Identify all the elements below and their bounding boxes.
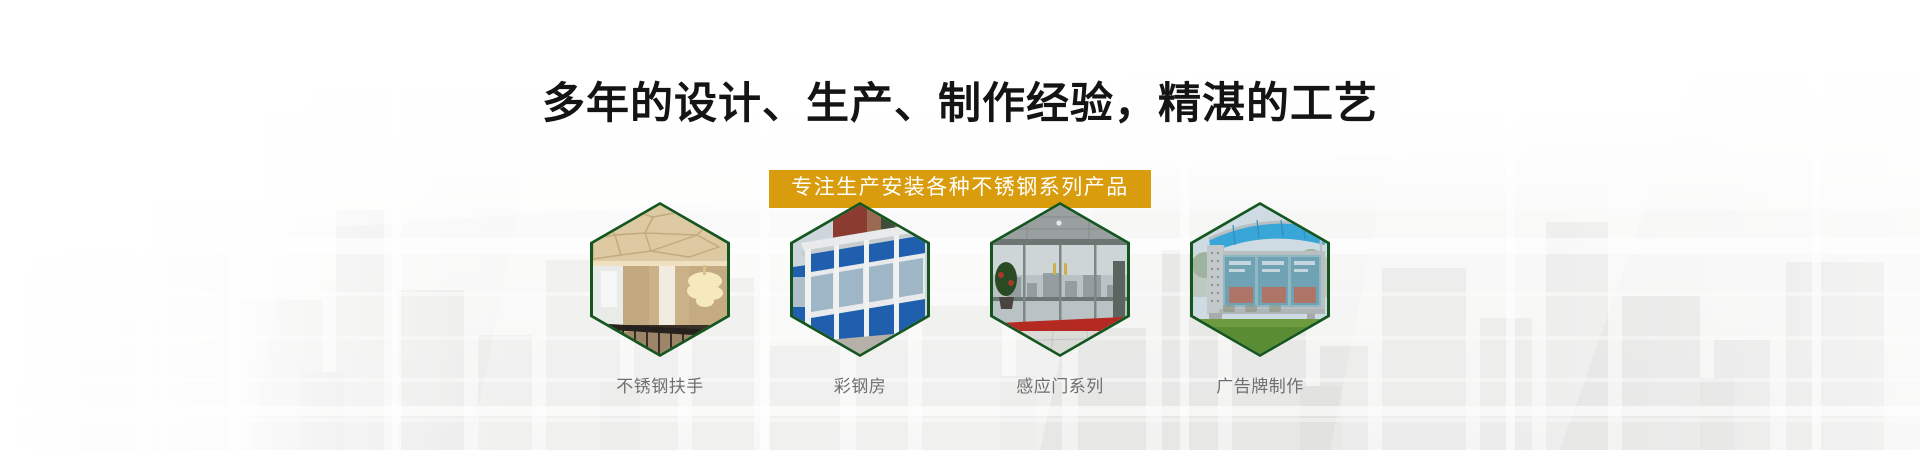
product-photo-steel-house: [793, 205, 927, 354]
product-item-sensor-door[interactable]: 感应门系列: [975, 202, 1145, 398]
hexagon-frame: [1190, 202, 1330, 357]
product-caption: 广告牌制作: [1216, 376, 1304, 398]
product-item-handrail[interactable]: 不锈钢扶手: [575, 202, 745, 398]
product-caption: 感应门系列: [1016, 376, 1104, 398]
hexagon-frame: [990, 202, 1130, 357]
product-photo-sensor-door: [993, 205, 1127, 354]
product-photo-billboard: [1193, 205, 1327, 354]
product-item-steel-house[interactable]: 彩钢房: [775, 202, 945, 398]
hexagon-frame: [790, 202, 930, 357]
product-hexagon-row: 不锈钢扶手: [0, 202, 1920, 398]
product-photo-handrail: [593, 205, 727, 354]
product-caption: 彩钢房: [834, 376, 887, 398]
product-caption: 不锈钢扶手: [616, 376, 704, 398]
hexagon-frame: [590, 202, 730, 357]
banner-content: 多年的设计、生产、制作经验，精湛的工艺 专注生产安装各种不锈钢系列产品: [0, 0, 1920, 450]
banner-headline: 多年的设计、生产、制作经验，精湛的工艺: [0, 78, 1920, 130]
promo-banner: 多年的设计、生产、制作经验，精湛的工艺 专注生产安装各种不锈钢系列产品: [0, 0, 1920, 450]
product-item-billboard[interactable]: 广告牌制作: [1175, 202, 1345, 398]
